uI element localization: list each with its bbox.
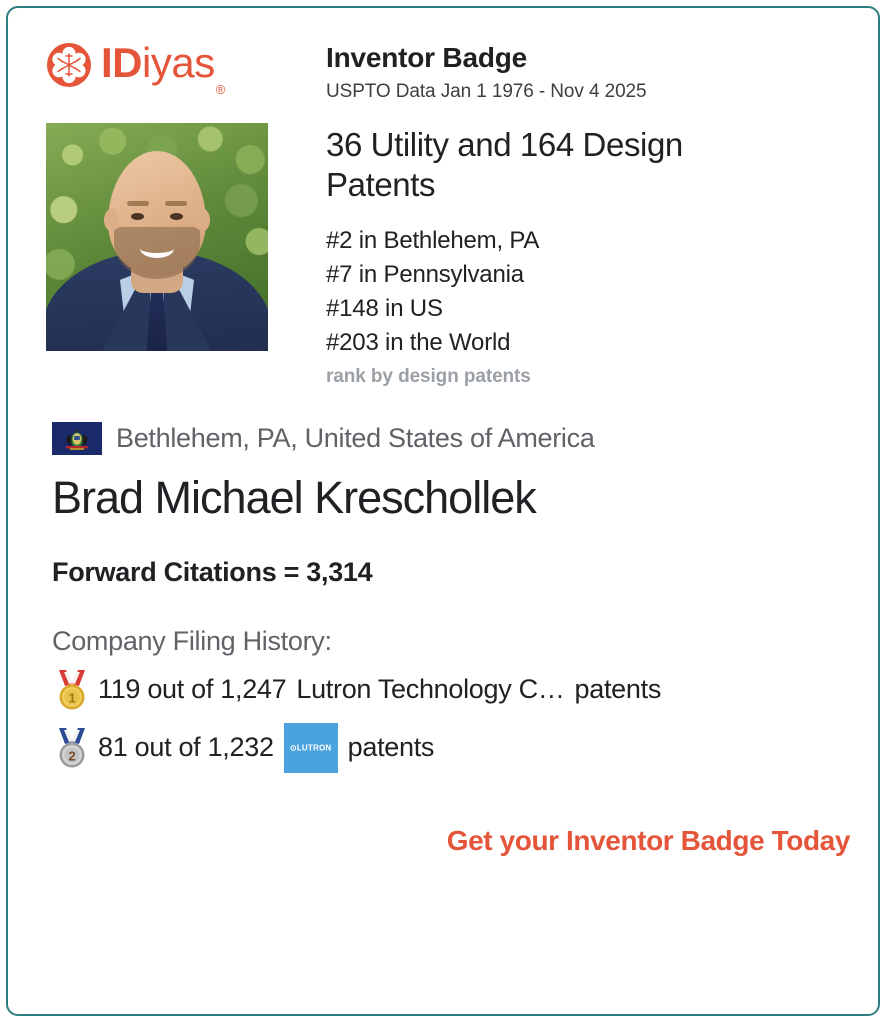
stats-column: 36 Utility and 164 Design Patents #2 in … <box>326 123 796 388</box>
rank-item-country: #148 in US <box>326 292 796 326</box>
forward-citations: Forward Citations = 3,314 <box>8 557 878 588</box>
pennsylvania-state-flag-icon <box>52 422 102 455</box>
inventor-photo <box>46 123 268 351</box>
photo-eyebrow-right <box>165 201 187 206</box>
filing-row-1-count: 119 out of 1,247 <box>98 674 286 705</box>
idiyas-flower-logo-icon <box>46 42 92 88</box>
inventor-badge-card: IDiyas® Inventor Badge USPTO Data Jan 1 … <box>6 6 880 1016</box>
patent-count-headline: 36 Utility and 164 Design Patents <box>326 125 796 206</box>
idiyas-brand-logo[interactable]: IDiyas® <box>46 34 326 96</box>
rank-basis-note: rank by design patents <box>326 366 796 388</box>
lutron-logo-icon[interactable]: ⊙LUTRON <box>284 723 338 773</box>
photo-smile <box>140 239 174 258</box>
badge-body: 36 Utility and 164 Design Patents #2 in … <box>8 123 878 388</box>
filing-row-1-company: Lutron Technology C… <box>296 674 564 705</box>
silver-medal-2nd-place-icon: 2 <box>52 727 92 769</box>
gold-medal-1st-place-icon: 1 <box>52 669 92 711</box>
cta-row: Get your Inventor Badge Today <box>8 825 878 857</box>
company-filing-history-title: Company Filing History: <box>8 626 878 657</box>
brand-name-light: iyas <box>142 39 215 86</box>
get-inventor-badge-link[interactable]: Get your Inventor Badge Today <box>447 825 850 856</box>
rank-item-world: #203 in the World <box>326 326 796 360</box>
photo-column <box>8 123 326 351</box>
registered-trademark-mark: ® <box>216 82 225 97</box>
lutron-logo-label: ⊙LUTRON <box>290 743 331 752</box>
filing-history-row-2: 2 81 out of 1,232 ⊙LUTRON patents <box>8 723 878 773</box>
filing-history-row-1: 1 119 out of 1,247 Lutron Technology C… … <box>8 669 878 711</box>
filing-row-1-suffix: patents <box>575 674 661 705</box>
photo-eyebrow-left <box>127 201 149 206</box>
svg-text:1: 1 <box>69 690 76 705</box>
location-row: Bethlehem, PA, United States of America <box>8 422 878 455</box>
location-text: Bethlehem, PA, United States of America <box>116 423 595 454</box>
rank-list: #2 in Bethlehem, PA #7 in Pennsylvania #… <box>326 224 796 388</box>
brand-name-bold: ID <box>101 39 142 86</box>
filing-row-2-suffix: patents <box>348 732 434 763</box>
rank-item-city: #2 in Bethlehem, PA <box>326 224 796 258</box>
rank-item-state: #7 in Pennsylvania <box>326 258 796 292</box>
badge-title: Inventor Badge <box>326 42 647 74</box>
badge-data-range-subtitle: USPTO Data Jan 1 1976 - Nov 4 2025 <box>326 81 647 103</box>
badge-header: IDiyas® Inventor Badge USPTO Data Jan 1 … <box>8 8 878 103</box>
idiyas-wordmark: IDiyas® <box>101 42 224 88</box>
filing-row-2-count: 81 out of 1,232 <box>98 732 274 763</box>
badge-header-text: Inventor Badge USPTO Data Jan 1 1976 - N… <box>326 34 647 103</box>
inventor-name: Brad Michael Kreschollek <box>8 473 878 523</box>
svg-text:2: 2 <box>69 748 76 763</box>
brand-logo-column: IDiyas® <box>8 34 326 96</box>
